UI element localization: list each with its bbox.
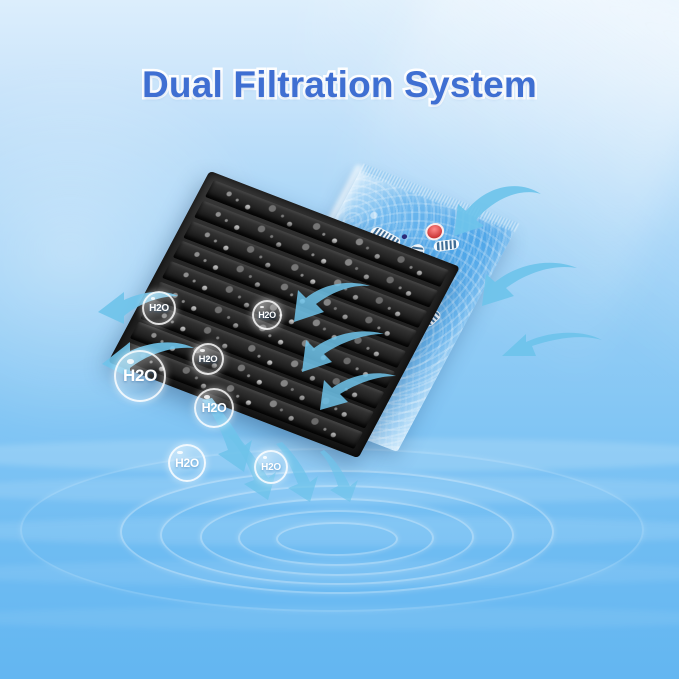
- h2o-label: H2O: [258, 310, 276, 320]
- h2o-label: H2O: [199, 354, 218, 365]
- h2o-label: H2O: [175, 456, 199, 470]
- h2o-bubble: H2O: [194, 388, 234, 428]
- h2o-bubble: H2O: [168, 444, 206, 482]
- water-inflow-arrow: [486, 330, 606, 384]
- h2o-bubble: H2O: [252, 300, 282, 330]
- water-inflow-arrow: [436, 186, 546, 266]
- h2o-label: H2O: [123, 366, 157, 386]
- water-inflow-arrow: [462, 262, 582, 326]
- h2o-bubble: H2O: [192, 343, 224, 375]
- h2o-label: H2O: [149, 303, 169, 314]
- infographic-stage: Dual Filtration System: [0, 0, 679, 679]
- h2o-bubble: H2O: [142, 291, 176, 325]
- h2o-label: H2O: [261, 462, 281, 473]
- h2o-label: H2O: [202, 401, 227, 415]
- steps-section: 1 2 3 Filter sediment & impurities. keep…: [0, 544, 679, 679]
- h2o-bubble: H2O: [114, 350, 166, 402]
- water-outflow-arrow: [318, 448, 364, 504]
- water-transfer-arrow: [318, 370, 398, 420]
- h2o-bubble: H2O: [254, 450, 288, 484]
